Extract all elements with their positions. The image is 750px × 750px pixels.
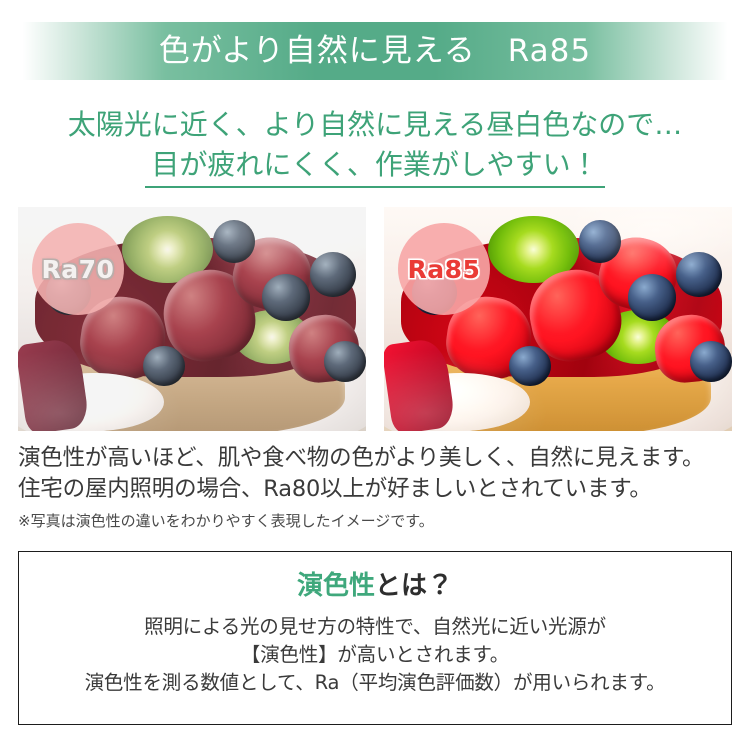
definition-title-accent: 演色性 [297, 571, 375, 601]
definition-body: 照明による光の見せ方の特性で、自然光に近い光源が 【演色性】が高いとされます。 … [19, 613, 731, 697]
photo-comparison: Ra70 Ra85 [18, 207, 732, 431]
ra70-badge: Ra70 [32, 223, 124, 315]
subtitle-line-2-underlined: 目が疲れにくく、作業がしやすい！ [145, 146, 604, 188]
ra85-badge: Ra85 [398, 223, 490, 315]
definition-title-plain: とは？ [375, 571, 453, 601]
definition-line-1: 照明による光の見せ方の特性で、自然光に近い光源が [19, 613, 731, 641]
subtitle-line-1: 太陽光に近く、より自然に見える昼白色なので… [0, 106, 750, 144]
body-copy-line-1: 演色性が高いほど、肌や食べ物の色がより美しく、自然に見えます。 [18, 443, 734, 474]
body-copy: 演色性が高いほど、肌や食べ物の色がより美しく、自然に見えます。 住宅の屋内照明の… [18, 443, 734, 531]
disclaimer-note: ※写真は演色性の違いをわかりやすく表現したイメージです。 [18, 511, 734, 531]
definition-line-3: 演色性を測る数値として、Ra（平均演色評価数）が用いられます。 [19, 669, 731, 697]
definition-title: 演色性とは？ [19, 572, 731, 601]
page-title: 色がより自然に見える Ra85 [159, 36, 591, 67]
body-copy-line-2: 住宅の屋内照明の場合、Ra80以上が好ましいとされています。 [18, 474, 734, 505]
definition-line-2: 【演色性】が高いとされます。 [19, 641, 731, 669]
subtitle-block: 太陽光に近く、より自然に見える昼白色なので… 目が疲れにくく、作業がしやすい！ [0, 106, 750, 188]
photo-ra85: Ra85 [384, 207, 732, 431]
photo-ra70: Ra70 [18, 207, 366, 431]
definition-box: 演色性とは？ 照明による光の見せ方の特性で、自然光に近い光源が 【演色性】が高い… [18, 551, 732, 725]
header-banner: 色がより自然に見える Ra85 [0, 22, 750, 80]
